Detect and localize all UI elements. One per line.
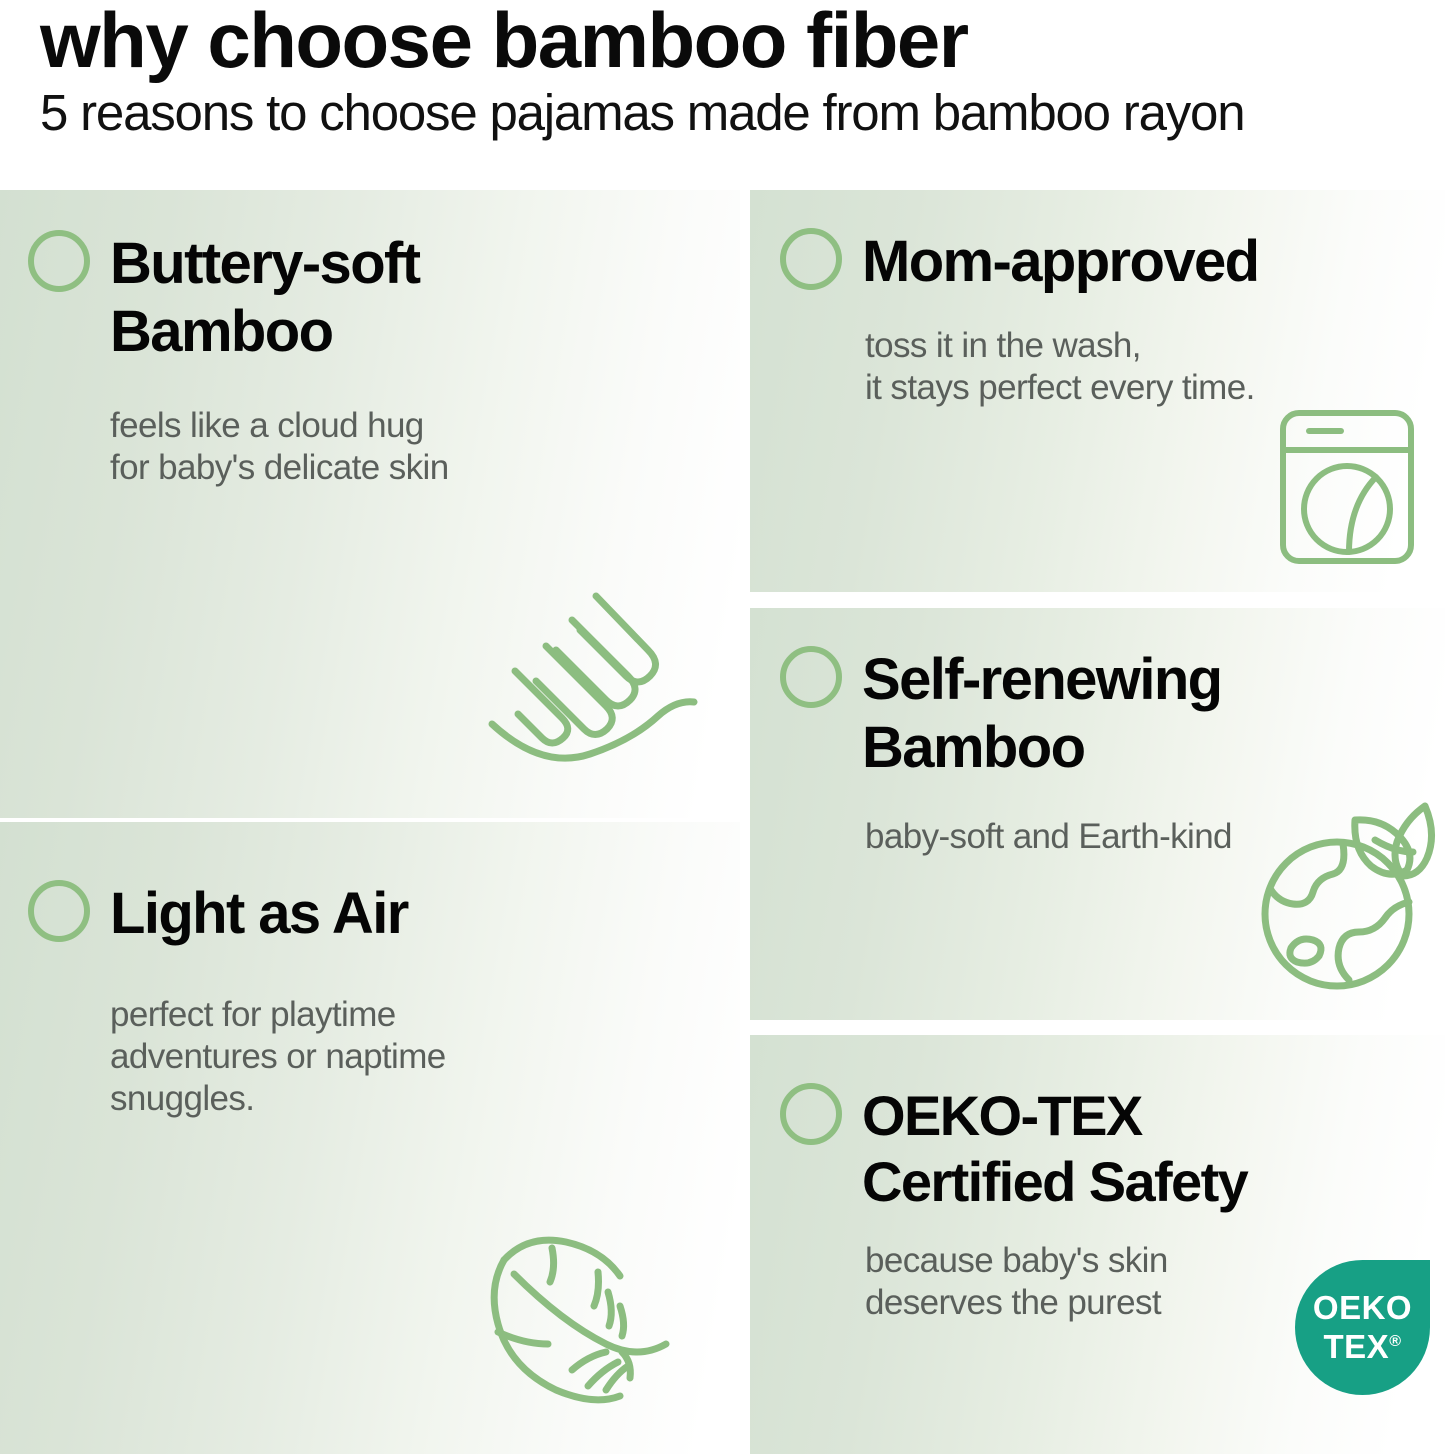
earth-with-leaves-icon	[1255, 796, 1445, 1001]
registered-mark-icon: ®	[1389, 1333, 1401, 1350]
card-header-oeko-tex: OEKO-TEX Certified Safety	[780, 1083, 1440, 1215]
hand-touch-fabric-icon	[480, 588, 710, 773]
oeko-badge-line1: OEKO	[1313, 1291, 1412, 1325]
card-header-buttery-soft-bamboo: Buttery-soft Bamboo	[28, 230, 718, 366]
card-header-self-renewing-bamboo: Self-renewing Bamboo	[780, 646, 1440, 782]
oeko-badge-line2-text: TEX	[1324, 1328, 1390, 1365]
card-title: Mom-approved	[862, 228, 1259, 296]
card-light-as-air: Light as Air perfect for playtime advent…	[0, 822, 740, 1454]
card-oeko-tex-certified-safety: OEKO-TEX Certified Safety because baby's…	[750, 1035, 1445, 1454]
infographic-page: why choose bamboo fiber 5 reasons to cho…	[0, 0, 1445, 1454]
card-body: toss it in the wash, it stays perfect ev…	[865, 325, 1425, 409]
card-mom-approved: Mom-approved toss it in the wash, it sta…	[750, 190, 1445, 592]
card-buttery-soft-bamboo: Buttery-soft Bamboo feels like a cloud h…	[0, 190, 740, 818]
bullet-circle-icon	[28, 230, 90, 292]
oeko-tex-badge: OEKO TEX®	[1295, 1260, 1430, 1395]
bullet-circle-icon	[780, 646, 842, 708]
card-header-light-as-air: Light as Air	[28, 880, 718, 948]
card-title: Buttery-soft Bamboo	[110, 230, 419, 366]
bullet-circle-icon	[780, 1083, 842, 1145]
page-subtitle: 5 reasons to choose pajamas made from ba…	[40, 84, 1244, 142]
card-title: Light as Air	[110, 880, 408, 948]
card-header-mom-approved: Mom-approved	[780, 228, 1440, 296]
page-header: why choose bamboo fiber 5 reasons to cho…	[0, 0, 1445, 190]
washing-machine-icon	[1275, 405, 1425, 575]
bullet-circle-icon	[28, 880, 90, 942]
card-self-renewing-bamboo: Self-renewing Bamboo baby-soft and Earth…	[750, 608, 1445, 1020]
page-title: why choose bamboo fiber	[40, 0, 968, 82]
oeko-badge-line2: TEX®	[1324, 1325, 1402, 1364]
card-title: OEKO-TEX Certified Safety	[862, 1083, 1247, 1215]
card-body: perfect for playtime adventures or napti…	[110, 994, 710, 1120]
card-body: feels like a cloud hug for baby's delica…	[110, 405, 710, 489]
bullet-circle-icon	[780, 228, 842, 290]
card-title: Self-renewing Bamboo	[862, 646, 1222, 782]
feather-icon	[470, 1220, 700, 1440]
